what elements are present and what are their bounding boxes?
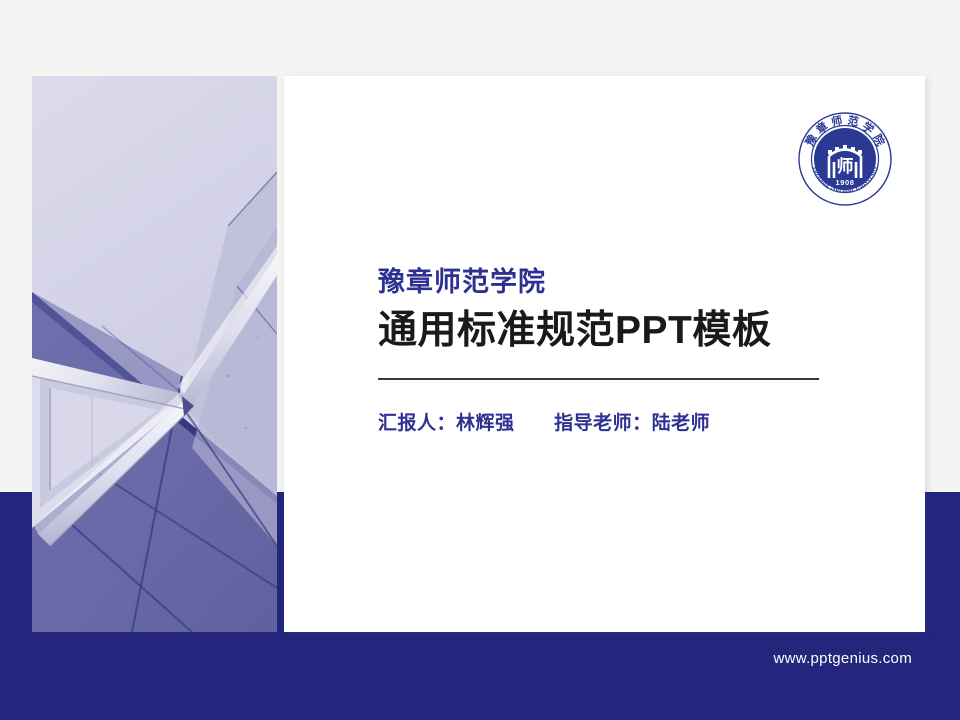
- footer-url[interactable]: www.pptgenius.com: [774, 650, 913, 667]
- ppt-title-slide: 豫 章 师 范 学 院 Yuzhang Normal University: [0, 0, 960, 720]
- organization-name: 豫章师范学院: [378, 266, 848, 300]
- advisor-label: 指导老师：陆老师: [554, 413, 710, 434]
- architectural-ceiling-photo: [32, 76, 277, 632]
- presenter-row: 汇报人：林辉强 指导老师：陆老师: [378, 408, 848, 435]
- content-card: 豫 章 师 范 学 院 Yuzhang Normal University: [284, 76, 925, 632]
- presenter-label: 汇报人：林辉强: [378, 413, 515, 434]
- title-text-block: 豫章师范学院 通用标准规范PPT模板 汇报人：林辉强 指导老师：陆老师: [378, 266, 848, 435]
- seal-icon: 豫 章 师 范 学 院 Yuzhang Normal University: [796, 110, 894, 208]
- title-divider: [378, 378, 819, 380]
- university-seal-logo: 豫 章 师 范 学 院 Yuzhang Normal University: [796, 110, 894, 208]
- page-title: 通用标准规范PPT模板: [378, 306, 848, 357]
- svg-text:1908: 1908: [835, 178, 854, 187]
- photo-geometry: [32, 76, 277, 632]
- svg-text:师: 师: [837, 156, 854, 177]
